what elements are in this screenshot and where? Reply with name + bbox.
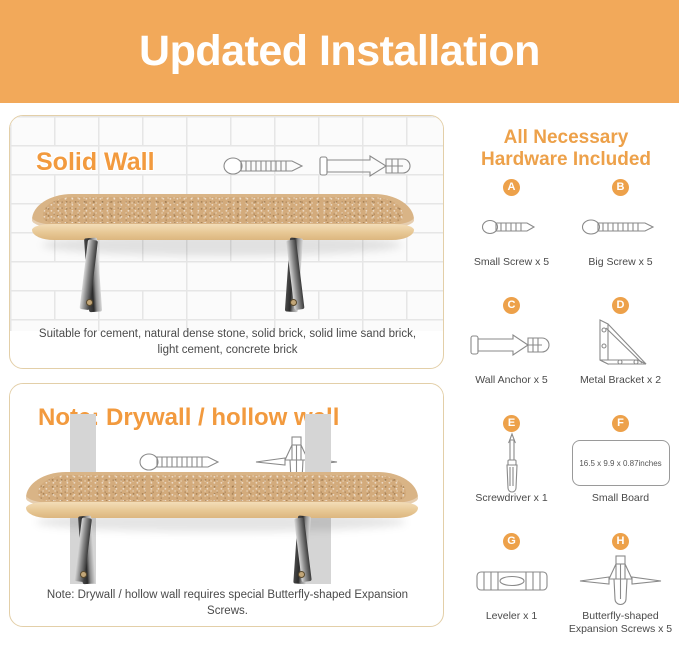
hardware-badge-b: B	[612, 179, 629, 196]
installation-panels: Solid Wall	[9, 115, 446, 627]
hardware-badge-e: E	[503, 415, 520, 432]
hardware-item-big-screw: B Big Screw x 5	[566, 177, 675, 295]
hardware-title-line1: All Necessary	[457, 127, 675, 149]
panel-drywall: Note: Drywall / hollow wall	[9, 383, 444, 627]
wall-anchor-icon	[469, 316, 555, 374]
shelf-board-texture	[43, 197, 402, 223]
panel-solid-wall-heading: Solid Wall	[36, 148, 155, 177]
hardware-item-wall-anchor: C Wall Anchor x 5	[457, 295, 566, 413]
board-outline: 16.5 x 9.9 x 0.87inches	[572, 440, 670, 486]
hardware-label-c: Wall Anchor x 5	[475, 374, 548, 387]
header-banner: Updated Installation	[0, 0, 679, 103]
hardware-item-screwdriver: E Screwdriver x 1	[457, 413, 566, 531]
board-dimensions-label: 16.5 x 9.9 x 0.87inches	[579, 459, 661, 468]
hardware-badge-h: H	[612, 533, 629, 550]
screw-icon	[222, 153, 308, 179]
big-screw-icon	[581, 198, 661, 256]
solid-wall-hardware-art	[222, 152, 418, 180]
bracket-left-screw	[87, 300, 92, 305]
screwdriver-icon	[499, 434, 525, 492]
butterfly-anchor-icon	[576, 552, 666, 610]
hardware-badge-c: C	[503, 297, 520, 314]
shelf-board-top	[26, 472, 418, 506]
hardware-section: All Necessary Hardware Included A Small …	[457, 115, 675, 630]
hardware-badge-a: A	[503, 179, 520, 196]
hardware-label-b: Big Screw x 5	[588, 256, 652, 269]
shelf-board-texture	[38, 475, 406, 501]
panel-drywall-caption: Note: Drywall / hollow wall requires spe…	[28, 587, 427, 619]
hardware-item-leveler: G Leveler x 1	[457, 531, 566, 649]
hardware-item-small-board: F 16.5 x 9.9 x 0.87inches Small Board	[566, 413, 675, 531]
hardware-label-a: Small Screw x 5	[474, 256, 549, 269]
hardware-item-butterfly-screw: H Butterfly-shaped Expansion Screws x 5	[566, 531, 675, 649]
small-screw-icon	[481, 198, 543, 256]
wall-anchor-icon	[318, 152, 418, 180]
hardware-label-h: Butterfly-shaped Expansion Screws x 5	[569, 610, 673, 636]
hardware-label-g: Leveler x 1	[486, 610, 537, 623]
hardware-label-e: Screwdriver x 1	[475, 492, 547, 505]
hardware-items-grid: A Small Screw x 5 B Big Screw x 5	[457, 177, 675, 649]
board-icon: 16.5 x 9.9 x 0.87inches	[572, 434, 670, 492]
hardware-item-small-screw: A Small Screw x 5	[457, 177, 566, 295]
metal-bracket-icon	[590, 316, 652, 374]
hardware-badge-d: D	[612, 297, 629, 314]
hardware-title-line2: Hardware Included	[457, 149, 675, 171]
leveler-icon	[474, 552, 550, 610]
hardware-badge-f: F	[612, 415, 629, 432]
panel-solid-wall: Solid Wall	[9, 115, 444, 369]
panel-solid-wall-caption: Suitable for cement, natural dense stone…	[28, 326, 427, 358]
shelf-illustration-drywall	[26, 472, 418, 592]
page-title: Updated Installation	[139, 30, 540, 73]
bracket-right-screw	[291, 300, 296, 305]
hardware-badge-g: G	[503, 533, 520, 550]
shelf-board-top	[32, 194, 414, 228]
bracket-right-screw	[299, 572, 304, 577]
bracket-left-screw	[81, 572, 86, 577]
shelf-illustration-solid	[32, 194, 414, 324]
hardware-section-title: All Necessary Hardware Included	[457, 127, 675, 171]
hardware-item-metal-bracket: D Metal Bracket x 2	[566, 295, 675, 413]
hardware-label-f: Small Board	[592, 492, 649, 505]
hardware-label-d: Metal Bracket x 2	[580, 374, 661, 387]
